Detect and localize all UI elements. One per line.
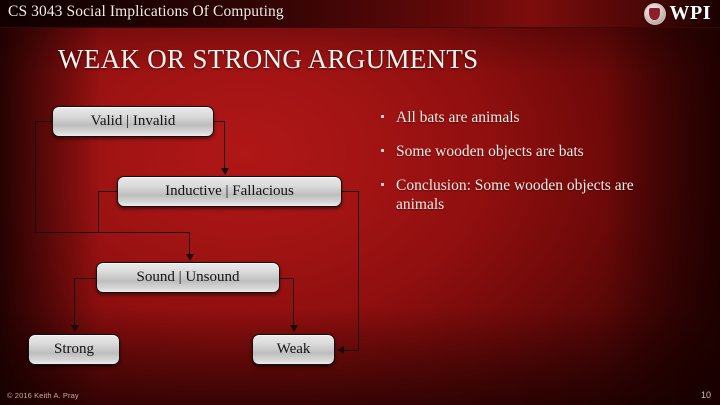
- list-item-text: All bats are animals: [396, 109, 520, 126]
- slide-canvas: CS 3043 Social Implications Of Computing…: [0, 0, 720, 405]
- connector-valid-left-v: [35, 121, 36, 233]
- arrowhead-into-inductive: [221, 168, 229, 175]
- arrowhead-into-strong: [71, 325, 79, 332]
- arrowhead-into-weak-top: [290, 325, 298, 332]
- connector-inductive-to-weak-h-top: [342, 191, 359, 192]
- connector-sound-to-weak-h: [280, 278, 294, 279]
- connector-sound-to-strong-v: [74, 278, 75, 326]
- diagram-node-weak[interactable]: Weak: [252, 334, 335, 365]
- diagram-node-valid-invalid[interactable]: Valid | Invalid: [52, 106, 214, 137]
- connector-inductive-left-v: [98, 191, 99, 233]
- footer-copyright: © 2016 Keith A. Pray: [7, 391, 79, 400]
- arrowhead-into-weak-right: [337, 346, 344, 354]
- connector-valid-to-inductive-v: [224, 121, 225, 169]
- slide-title-bar: CS 3043 Social Implications Of Computing…: [0, 0, 720, 28]
- connector-sound-to-weak-v: [293, 278, 294, 326]
- diagram-node-inductive-fallacious[interactable]: Inductive | Fallacious: [117, 176, 342, 207]
- diagram-node-sound-unsound[interactable]: Sound | Unsound: [96, 262, 280, 293]
- page-title: WEAK OR STRONG ARGUMENTS: [58, 44, 478, 75]
- list-item-text: Some wooden objects are bats: [396, 143, 584, 160]
- connector-inductive-to-weak-h-bottom: [344, 350, 359, 351]
- bullet-list: All bats are animals Some wooden objects…: [378, 108, 678, 229]
- list-item: All bats are animals: [378, 108, 678, 127]
- diagram-node-strong[interactable]: Strong: [28, 334, 120, 365]
- slide-page-number: 10: [701, 390, 711, 400]
- wpi-seal-icon: [644, 3, 666, 25]
- list-item-text: Conclusion: Some wooden objects are anim…: [396, 177, 634, 213]
- wpi-seal-shield-icon: [649, 8, 660, 20]
- bullet-point-icon: [381, 149, 384, 152]
- connector-bus-to-sound-v: [189, 232, 190, 255]
- list-item: Some wooden objects are bats: [378, 142, 678, 161]
- wpi-logo: WPI: [644, 2, 712, 25]
- bullet-point-icon: [381, 115, 384, 118]
- course-title: CS 3043 Social Implications Of Computing: [8, 3, 284, 21]
- wpi-logo-text: WPI: [670, 2, 712, 25]
- arrowhead-into-sound: [186, 254, 194, 261]
- connector-sound-to-strong-h: [74, 278, 97, 279]
- connector-inductive-left-h: [98, 191, 118, 192]
- connector-bus-to-sound-h: [35, 232, 190, 233]
- bullet-point-icon: [381, 183, 384, 186]
- list-item: Conclusion: Some wooden objects are anim…: [378, 176, 678, 214]
- connector-valid-left-h: [35, 121, 53, 122]
- connector-inductive-to-weak-v: [358, 191, 359, 350]
